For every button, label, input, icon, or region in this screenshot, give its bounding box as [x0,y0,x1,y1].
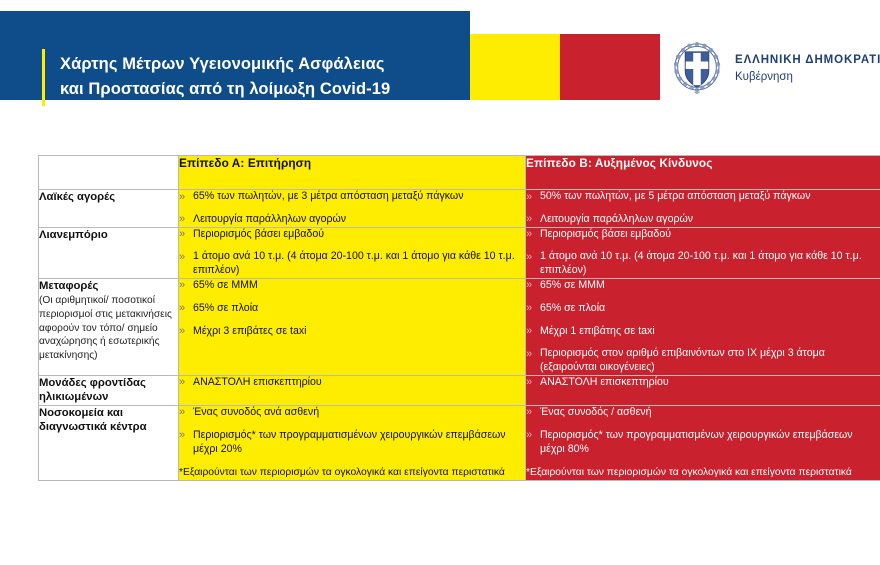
category-cell: Λιανεμπόριο [39,227,179,278]
bullet-marker-icon: » [526,278,532,292]
category-cell: Λαϊκές αγορές [39,190,179,228]
measure-item: »ΑΝΑΣΤΟΛΗ επισκεπτηρίου [179,376,525,390]
measure-list: »Ένας συνοδός / ασθενή»Περιορισμός* των … [526,406,880,456]
category-label: Μεταφορές [39,279,178,294]
category-cell: Μεταφορές(Οι αριθμητικοί/ ποσοτικοί περι… [39,278,179,375]
bullet-marker-icon: » [179,324,185,338]
header-blue-banner: Χάρτης Μέτρων Υγειονομικής Ασφάλειας και… [0,11,470,100]
level-a-cell: »Περιορισμός βάσει εμβαδού»1 άτομο ανά 1… [179,227,526,278]
level-a-cell: »Ένας συνοδός ανά ασθενή»Περιορισμός* τω… [179,405,526,480]
measure-list: »ΑΝΑΣΤΟΛΗ επισκεπτηρίου [179,376,525,390]
category-label: Νοσοκομεία και διαγνωστικά κέντρα [39,406,178,435]
measure-item: »Περιορισμός* των προγραμματισμένων χειρ… [179,429,525,457]
bullet-marker-icon: » [179,301,185,315]
bullet-marker-icon: » [179,428,185,442]
category-label: Μονάδες φροντίδας ηλικιωμένων [39,376,178,405]
table-row: Μεταφορές(Οι αριθμητικοί/ ποσοτικοί περι… [39,278,880,375]
bullet-marker-icon: » [526,227,532,241]
measures-table-body: Επίπεδο Α: Επιτήρηση Επίπεδο Β: Αυξημένο… [39,156,880,481]
level-b-cell: »ΑΝΑΣΤΟΛΗ επισκεπτηρίου [526,375,880,405]
level-b-cell: »Περιορισμός βάσει εμβαδού»1 άτομο ανά 1… [526,227,880,278]
bullet-marker-icon: » [179,405,185,419]
bullet-marker-icon: » [179,227,185,241]
measure-footnote: *Εξαιρούνται των περιορισμών τα ογκολογι… [179,466,525,480]
measure-item: »1 άτομο ανά 10 τ.μ. (4 άτομα 20-100 τ.μ… [179,250,525,278]
page-title-line2: και Προστασίας από τη λοίμωξη Covid-19 [60,77,460,102]
header-red-block [560,34,660,100]
header-cell-category [39,156,179,190]
header-cell-level-a: Επίπεδο Α: Επιτήρηση [179,156,526,190]
measure-list: »50% των πωλητών, με 5 μέτρα απόσταση με… [526,190,880,227]
table-row: Λιανεμπόριο»Περιορισμός βάσει εμβαδού»1 … [39,227,880,278]
measure-list: »Ένας συνοδός ανά ασθενή»Περιορισμός* τω… [179,406,525,456]
government-text: ΕΛΛΗΝΙΚΗ ΔΗΜΟΚΡΑΤΙΑ Κυβέρνηση [735,53,880,85]
category-note: (Οι αριθμητικοί/ ποσοτικοί περιορισμοί σ… [39,294,178,362]
header-yellow-block [470,34,560,100]
measure-item: »Ένας συνοδός ανά ασθενή [179,406,525,420]
page-title: Χάρτης Μέτρων Υγειονομικής Ασφάλειας και… [60,52,460,102]
measure-item: »65% σε ΜΜΜ [179,279,525,293]
measures-table: Επίπεδο Α: Επιτήρηση Επίπεδο Β: Αυξημένο… [38,155,880,481]
page-header: Χάρτης Μέτρων Υγειονομικής Ασφάλειας και… [0,0,880,110]
measure-item: »Ένας συνοδός / ασθενή [526,406,880,420]
bullet-marker-icon: » [526,428,532,442]
bullet-marker-icon: » [526,347,532,361]
table-row: Νοσοκομεία και διαγνωστικά κέντρα»Ένας σ… [39,405,880,480]
government-lockup: ΕΛΛΗΝΙΚΗ ΔΗΜΟΚΡΑΤΙΑ Κυβέρνηση [670,40,880,98]
level-a-cell: »65% σε ΜΜΜ»65% σε πλοία»Μέχρι 3 επιβάτε… [179,278,526,375]
bullet-marker-icon: » [526,405,532,419]
bullet-marker-icon: » [179,278,185,292]
header-yellow-accent-bar [42,49,45,106]
measure-item: »65% σε ΜΜΜ [526,279,880,293]
measure-item: »Περιορισμός βάσει εμβαδού [526,228,880,242]
bullet-marker-icon: » [179,212,185,226]
measure-item: »65% των πωλητών, με 3 μέτρα απόσταση με… [179,190,525,204]
table-row: Λαϊκές αγορές»65% των πωλητών, με 3 μέτρ… [39,190,880,228]
table-row: Μονάδες φροντίδας ηλικιωμένων»ΑΝΑΣΤΟΛΗ ε… [39,375,880,405]
level-b-cell: »65% σε ΜΜΜ»65% σε πλοία»Μέχρι 1 επιβάτη… [526,278,880,375]
level-b-cell: »Ένας συνοδός / ασθενή»Περιορισμός* των … [526,405,880,480]
level-a-cell: »ΑΝΑΣΤΟΛΗ επισκεπτηρίου [179,375,526,405]
bullet-marker-icon: » [526,190,532,204]
bullet-marker-icon: » [526,324,532,338]
level-b-cell: »50% των πωλητών, με 5 μέτρα απόσταση με… [526,190,880,228]
page-title-line1: Χάρτης Μέτρων Υγειονομικής Ασφάλειας [60,52,460,77]
bullet-marker-icon: » [526,212,532,226]
measure-item: »Περιορισμός στον αριθμό επιβαινόντων στ… [526,347,880,375]
measure-item: »65% σε πλοία [526,302,880,316]
measure-list: »ΑΝΑΣΤΟΛΗ επισκεπτηρίου [526,376,880,390]
government-name: ΕΛΛΗΝΙΚΗ ΔΗΜΟΚΡΑΤΙΑ [735,53,880,67]
category-label: Λαϊκές αγορές [39,190,178,205]
measure-list: »Περιορισμός βάσει εμβαδού»1 άτομο ανά 1… [179,228,525,278]
measure-item: »Λειτουργία παράλληλων αγορών [179,213,525,227]
measure-list: »65% σε ΜΜΜ»65% σε πλοία»Μέχρι 1 επιβάτη… [526,279,880,375]
header-cell-level-b: Επίπεδο Β: Αυξημένος Κίνδυνος [526,156,880,190]
bullet-marker-icon: » [179,250,185,264]
bullet-marker-icon: » [526,301,532,315]
measure-item: »Μέχρι 3 επιβάτες σε taxi [179,325,525,339]
measure-list: »65% σε ΜΜΜ»65% σε πλοία»Μέχρι 3 επιβάτε… [179,279,525,338]
category-cell: Μονάδες φροντίδας ηλικιωμένων [39,375,179,405]
measure-item: »ΑΝΑΣΤΟΛΗ επισκεπτηρίου [526,376,880,390]
measure-item: »Περιορισμός βάσει εμβαδού [179,228,525,242]
measure-item: »Μέχρι 1 επιβάτης σε taxi [526,325,880,339]
measure-footnote: *Εξαιρούνται των περιορισμών τα ογκολογι… [526,466,880,480]
measure-item: »Περιορισμός* των προγραμματισμένων χειρ… [526,429,880,457]
level-a-cell: »65% των πωλητών, με 3 μέτρα απόσταση με… [179,190,526,228]
measure-item: »50% των πωλητών, με 5 μέτρα απόσταση με… [526,190,880,204]
page-root: Χάρτης Μέτρων Υγειονομικής Ασφάλειας και… [0,0,880,565]
category-cell: Νοσοκομεία και διαγνωστικά κέντρα [39,405,179,480]
category-label: Λιανεμπόριο [39,228,178,243]
measure-list: »Περιορισμός βάσει εμβαδού»1 άτομο ανά 1… [526,228,880,278]
government-subtitle: Κυβέρνηση [735,69,880,85]
measure-item: »1 άτομο ανά 10 τ.μ. (4 άτομα 20-100 τ.μ… [526,250,880,278]
bullet-marker-icon: » [526,250,532,264]
table-header-row: Επίπεδο Α: Επιτήρηση Επίπεδο Β: Αυξημένο… [39,156,880,190]
bullet-marker-icon: » [526,375,532,389]
measure-item: »Λειτουργία παράλληλων αγορών [526,213,880,227]
bullet-marker-icon: » [179,190,185,204]
measure-item: »65% σε πλοία [179,302,525,316]
greek-coat-of-arms-icon [670,40,724,98]
bullet-marker-icon: » [179,375,185,389]
measure-list: »65% των πωλητών, με 3 μέτρα απόσταση με… [179,190,525,227]
